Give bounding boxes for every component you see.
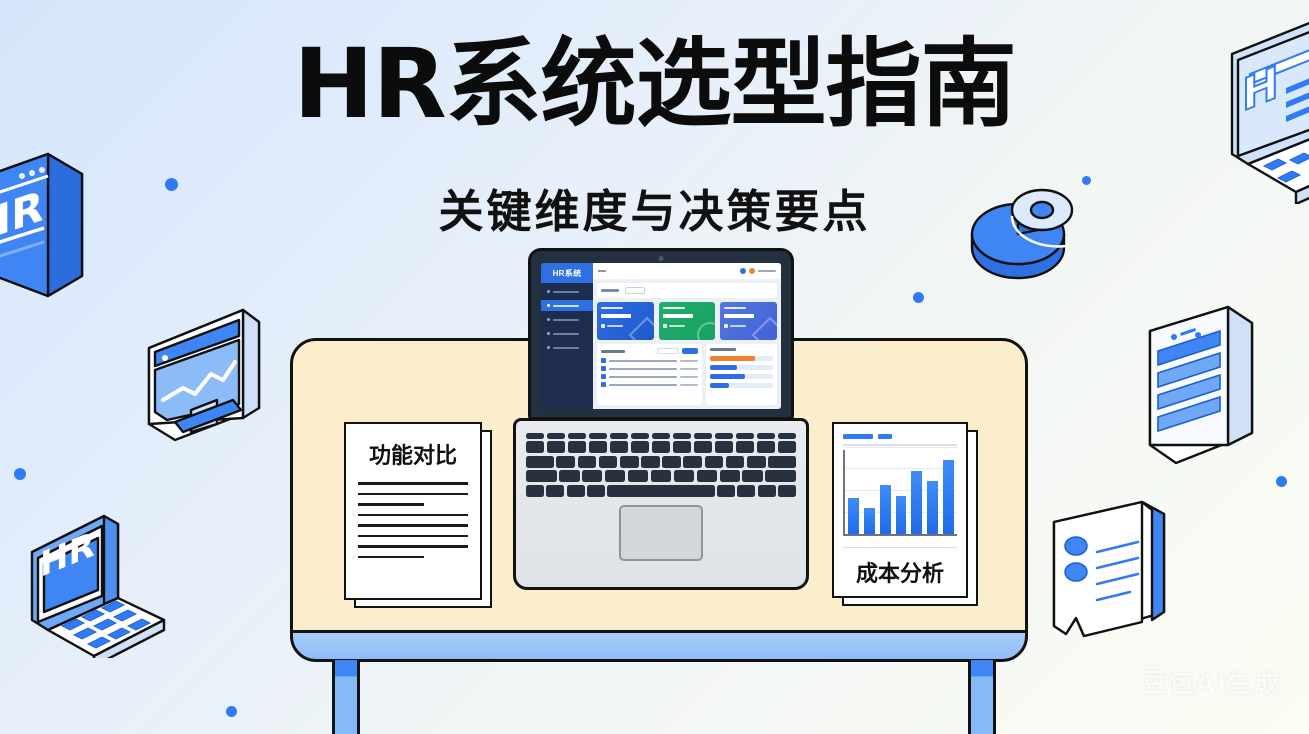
bar-6	[927, 481, 938, 533]
desk-leg-left	[332, 660, 360, 734]
bar-3	[880, 485, 891, 534]
bar-4	[896, 496, 907, 534]
stat-card-active[interactable]	[659, 302, 716, 340]
feature-comparison-document: 功能对比	[344, 422, 482, 600]
sidebar-item-2[interactable]	[541, 300, 593, 311]
keyboard-row[interactable]	[526, 485, 796, 497]
search-input[interactable]	[657, 348, 679, 354]
poster-canvas: HR	[0, 0, 1309, 734]
document-title: 成本分析	[843, 547, 957, 588]
table-row[interactable]	[601, 358, 698, 363]
dashboard-content	[593, 279, 781, 409]
todo-table-panel	[597, 344, 702, 405]
list-card-icon	[1140, 305, 1262, 475]
monitor-line-chart-icon	[131, 300, 273, 442]
progress-bar-track	[710, 383, 773, 388]
decor-dot	[14, 468, 26, 480]
notification-icon[interactable]	[749, 268, 755, 274]
doc-text-line	[358, 535, 468, 538]
user-name-label	[758, 270, 776, 272]
laptop-hr-icon: HR	[18, 512, 168, 658]
page-title: HR系统选型指南	[0, 34, 1309, 135]
doc-text-line	[358, 556, 424, 559]
desk-leg-right	[968, 660, 996, 734]
doc-text-line	[358, 514, 468, 517]
decor-dot	[913, 292, 924, 303]
cost-analysis-document: 成本分析	[832, 422, 968, 598]
avatar[interactable]	[740, 268, 746, 274]
divider	[843, 444, 957, 446]
chat-bubble-icon	[1040, 500, 1190, 660]
sidebar-item-5[interactable]	[541, 342, 593, 353]
table-row[interactable]	[601, 366, 698, 371]
keyboard-row[interactable]	[526, 433, 796, 439]
doc-text-line	[358, 493, 468, 496]
dashboard-sidebar: HR系统	[541, 263, 593, 409]
doc-text-line	[358, 545, 468, 548]
stat-card-row	[597, 302, 777, 340]
desk-edge	[290, 630, 1028, 662]
doc-text-line	[358, 524, 468, 527]
sidebar-item-3[interactable]	[541, 314, 593, 325]
laptop-lid: HR系统	[528, 248, 794, 420]
bar-1	[848, 498, 859, 533]
usage-progress-panel	[706, 344, 777, 405]
page-subtitle: 关键维度与决策要点	[0, 175, 1309, 240]
sidebar-item-1[interactable]	[541, 286, 593, 297]
doc-text-line	[358, 503, 424, 506]
bullet-icon	[547, 290, 550, 293]
bullet-icon	[547, 332, 550, 335]
app-logo: HR系统	[541, 263, 593, 283]
progress-bar-track	[710, 374, 773, 379]
laptop-base	[513, 418, 809, 590]
bar-2	[864, 508, 875, 533]
progress-bar-track	[710, 356, 773, 361]
trackpad[interactable]	[619, 505, 703, 561]
table-title	[601, 350, 625, 353]
bullet-icon	[547, 346, 550, 349]
progress-bar-track	[710, 365, 773, 370]
dashboard-lower-row	[597, 344, 777, 405]
dashboard-main	[593, 263, 781, 409]
sidebar-item-4[interactable]	[541, 328, 593, 339]
row-icon	[601, 358, 606, 363]
bar-5	[911, 471, 922, 534]
bar-7	[943, 460, 954, 534]
decor-dot	[1276, 476, 1287, 487]
spacebar-key	[607, 485, 714, 497]
row-icon	[601, 366, 606, 371]
watermark: 豆包AI生成	[1141, 663, 1281, 700]
filter-button[interactable]	[625, 287, 645, 294]
new-button[interactable]	[682, 348, 698, 354]
stat-card-recruiting[interactable]	[720, 302, 777, 340]
panel-title	[710, 348, 736, 351]
table-row[interactable]	[601, 374, 698, 379]
table-header	[601, 348, 698, 354]
bar-chart-plot	[843, 450, 957, 536]
keyboard-row[interactable]	[526, 441, 796, 453]
dashboard-topbar	[593, 263, 781, 279]
bullet-icon	[547, 318, 550, 321]
row-icon	[601, 382, 606, 387]
breadcrumb-panel	[597, 283, 777, 298]
keyboard-row[interactable]	[526, 470, 796, 482]
decor-dot	[226, 706, 237, 717]
document-title: 功能对比	[358, 438, 468, 470]
row-icon	[601, 374, 606, 379]
hr-dashboard-screen: HR系统	[541, 263, 781, 409]
stat-card-employees[interactable]	[597, 302, 654, 340]
chart-legend	[843, 434, 957, 439]
table-row[interactable]	[601, 382, 698, 387]
breadcrumb	[601, 287, 773, 294]
bullet-icon	[547, 304, 550, 307]
menu-icon[interactable]	[598, 270, 606, 272]
webcam-icon	[659, 256, 664, 261]
keyboard-row[interactable]	[526, 456, 796, 468]
doc-text-line	[358, 482, 468, 485]
